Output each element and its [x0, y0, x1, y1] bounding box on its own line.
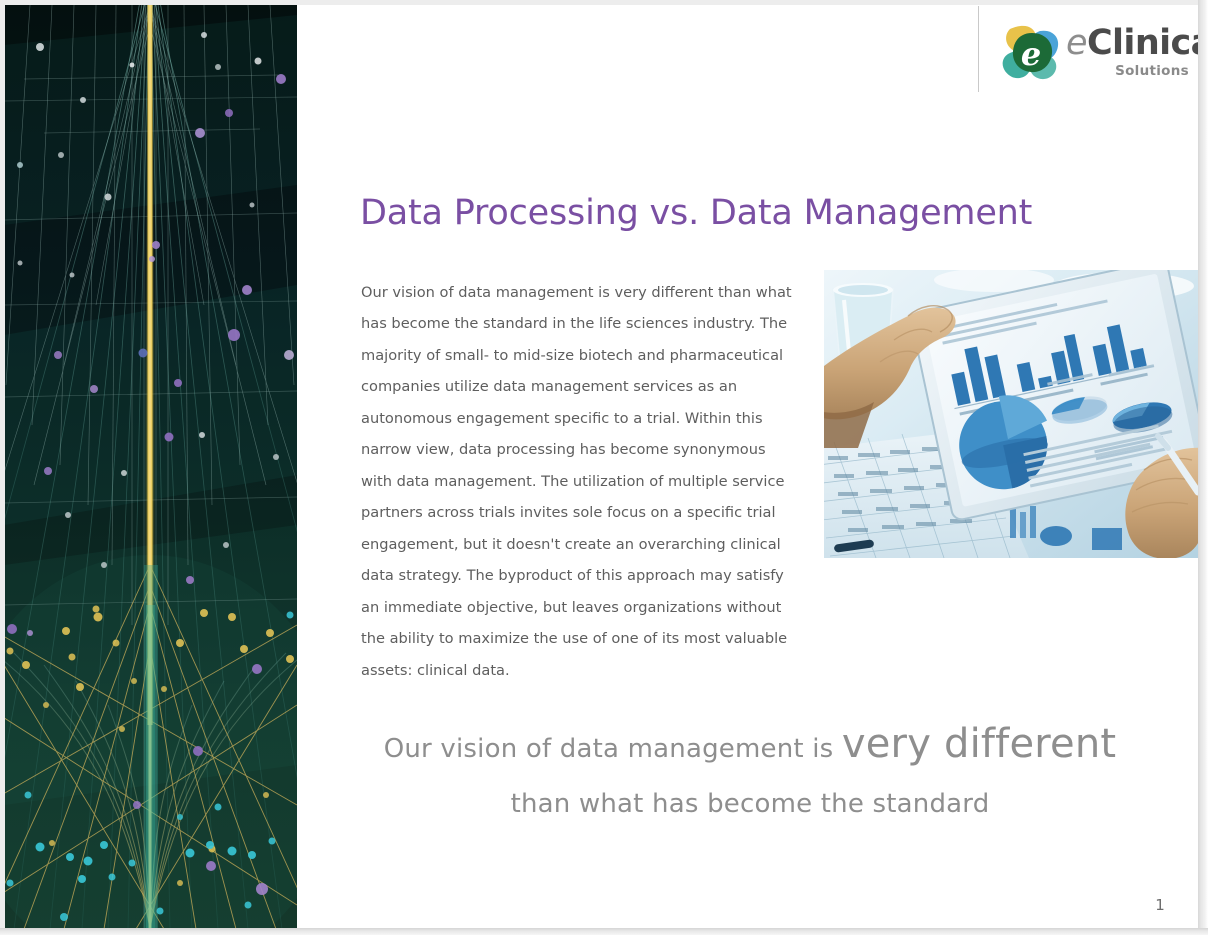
abstract-network-visualization-artwork: [4, 5, 297, 929]
wordmark-solutions-text: Solutions: [1115, 63, 1189, 79]
svg-text:e: e: [1021, 35, 1041, 73]
pull-quote: Our vision of data management is very di…: [300, 718, 1200, 824]
hands-holding-tablet-with-charts-photo: [824, 270, 1204, 558]
pull-quote-lead-text: Our vision of data management is: [384, 734, 842, 764]
eclinical-wordmark: eClinical Solutions: [1066, 24, 1190, 82]
wordmark-main: eClinical: [1066, 26, 1208, 61]
wordmark-e-letter: e: [1066, 23, 1087, 63]
pull-quote-line-2: than what has become the standard: [300, 784, 1200, 824]
paper-edge-left: [0, 0, 5, 935]
page-title: Data Processing vs. Data Management: [360, 193, 1140, 233]
wordmark-clinical-text: Clinical: [1087, 23, 1208, 63]
paper-edge-right: [1198, 0, 1208, 935]
page-number: 1: [1140, 896, 1180, 914]
eclinical-solutions-logo: e eClinical Solutions: [1000, 22, 1190, 84]
body-paragraph: Our vision of data management is very di…: [361, 277, 797, 687]
eclinical-petal-logo-icon: e: [1000, 22, 1064, 84]
paper-edge-bottom: [0, 928, 1208, 935]
header-divider: [978, 6, 979, 92]
pull-quote-line-1: Our vision of data management is very di…: [300, 718, 1200, 778]
pull-quote-emphasis-text: very different: [842, 721, 1116, 767]
document-page: e eClinical Solutions Data Processing vs…: [0, 0, 1208, 935]
paper-edge-top: [0, 0, 1208, 5]
